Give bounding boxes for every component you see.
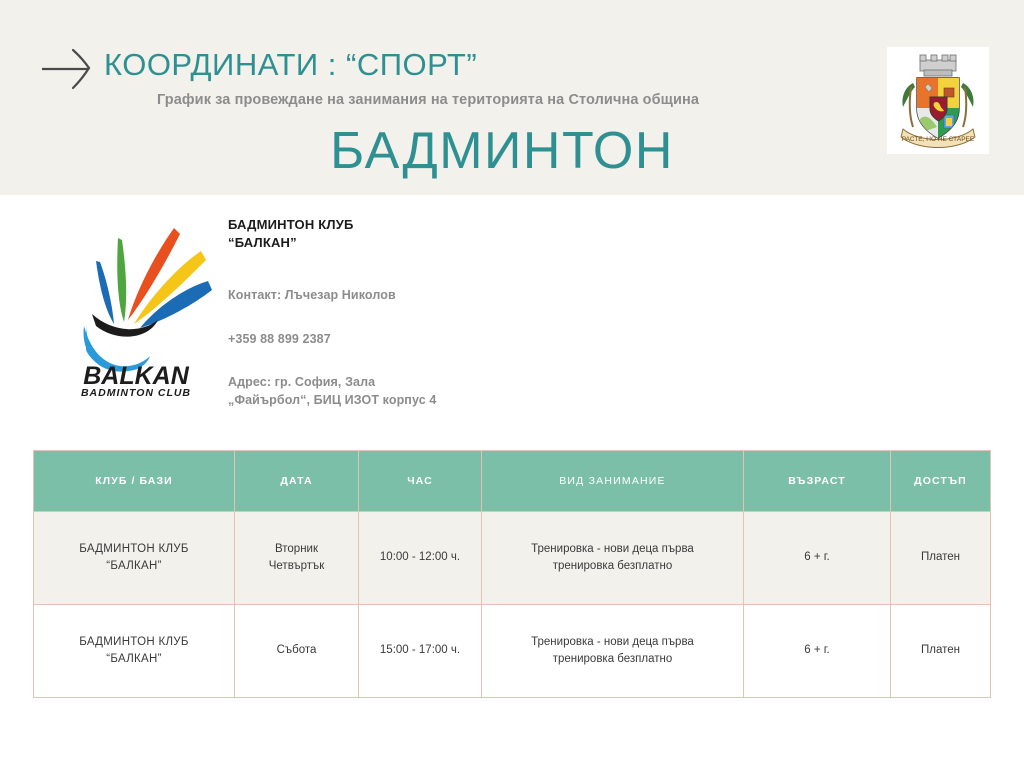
club-address-line-1: Адрес: гр. София, Зала — [228, 374, 528, 392]
cell-access: Платен — [891, 605, 991, 698]
column-header-access[interactable]: ДОСТЪП — [891, 451, 991, 512]
emblem-motto: РАСТЕ, НО НЕ СТАРЕЕ — [902, 136, 975, 143]
cell-age: 6 + г. — [744, 512, 891, 605]
logo-subtext: BADMINTON CLUB — [81, 387, 191, 396]
cell-type: Тренировка - нови деца първа тренировка … — [482, 605, 744, 698]
sofia-coat-of-arms-icon: РАСТЕ, НО НЕ СТАРЕЕ — [887, 47, 989, 154]
arrow-right-curved-icon — [40, 48, 98, 90]
club-address-line-2: „Файърбол“, БИЦ ИЗОТ корпус 4 — [228, 392, 528, 410]
sport-title: БАДМИНТОН — [0, 121, 1024, 181]
column-header-club[interactable]: КЛУБ / БАЗИ — [34, 451, 235, 512]
column-header-date[interactable]: ДАТА — [235, 451, 359, 512]
cell-club: БАДМИНТОН КЛУБ “БАЛКАН” — [34, 605, 235, 698]
header-band: КООРДИНАТИ : “СПОРТ” График за провеждан… — [0, 0, 1024, 195]
table-row: БАДМИНТОН КЛУБ “БАЛКАН” Вторник Четвъртъ… — [34, 512, 991, 605]
table-body: БАДМИНТОН КЛУБ “БАЛКАН” Вторник Четвъртъ… — [34, 512, 991, 698]
column-header-age[interactable]: ВЪЗРАСТ — [744, 451, 891, 512]
club-info-block: БАДМИНТОН КЛУБ “БАЛКАН” Контакт: Лъчезар… — [228, 216, 528, 410]
table-header: КЛУБ / БАЗИ ДАТА ЧАС ВИД ЗАНИМАНИЕ ВЪЗРА… — [34, 451, 991, 512]
club-phone[interactable]: +359 88 899 2387 — [228, 331, 528, 349]
schedule-table: КЛУБ / БАЗИ ДАТА ЧАС ВИД ЗАНИМАНИЕ ВЪЗРА… — [33, 450, 991, 698]
cell-access: Платен — [891, 512, 991, 605]
club-name-line-1: БАДМИНТОН КЛУБ — [228, 216, 528, 234]
cell-age: 6 + г. — [744, 605, 891, 698]
cell-time: 10:00 - 12:00 ч. — [359, 512, 482, 605]
table-row: БАДМИНТОН КЛУБ “БАЛКАН” Събота 15:00 - 1… — [34, 605, 991, 698]
column-header-time[interactable]: ЧАС — [359, 451, 482, 512]
cell-date: Вторник Четвъртък — [235, 512, 359, 605]
club-name-line-2: “БАЛКАН” — [228, 234, 528, 252]
cell-type: Тренировка - нови деца първа тренировка … — [482, 512, 744, 605]
balkan-badminton-club-logo: BALKAN BADMINTON CLUB — [56, 206, 226, 396]
page-subtitle: График за провеждане на занимания на тер… — [157, 92, 699, 108]
page-title: КООРДИНАТИ : “СПОРТ” — [104, 47, 477, 83]
table-header-row: КЛУБ / БАЗИ ДАТА ЧАС ВИД ЗАНИМАНИЕ ВЪЗРА… — [34, 451, 991, 512]
club-contact: Контакт: Лъчезар Николов — [228, 287, 528, 305]
logo-wordmark: BALKAN — [83, 362, 189, 390]
cell-club: БАДМИНТОН КЛУБ “БАЛКАН” — [34, 512, 235, 605]
cell-time: 15:00 - 17:00 ч. — [359, 605, 482, 698]
cell-date: Събота — [235, 605, 359, 698]
column-header-type[interactable]: ВИД ЗАНИМАНИЕ — [482, 451, 744, 512]
